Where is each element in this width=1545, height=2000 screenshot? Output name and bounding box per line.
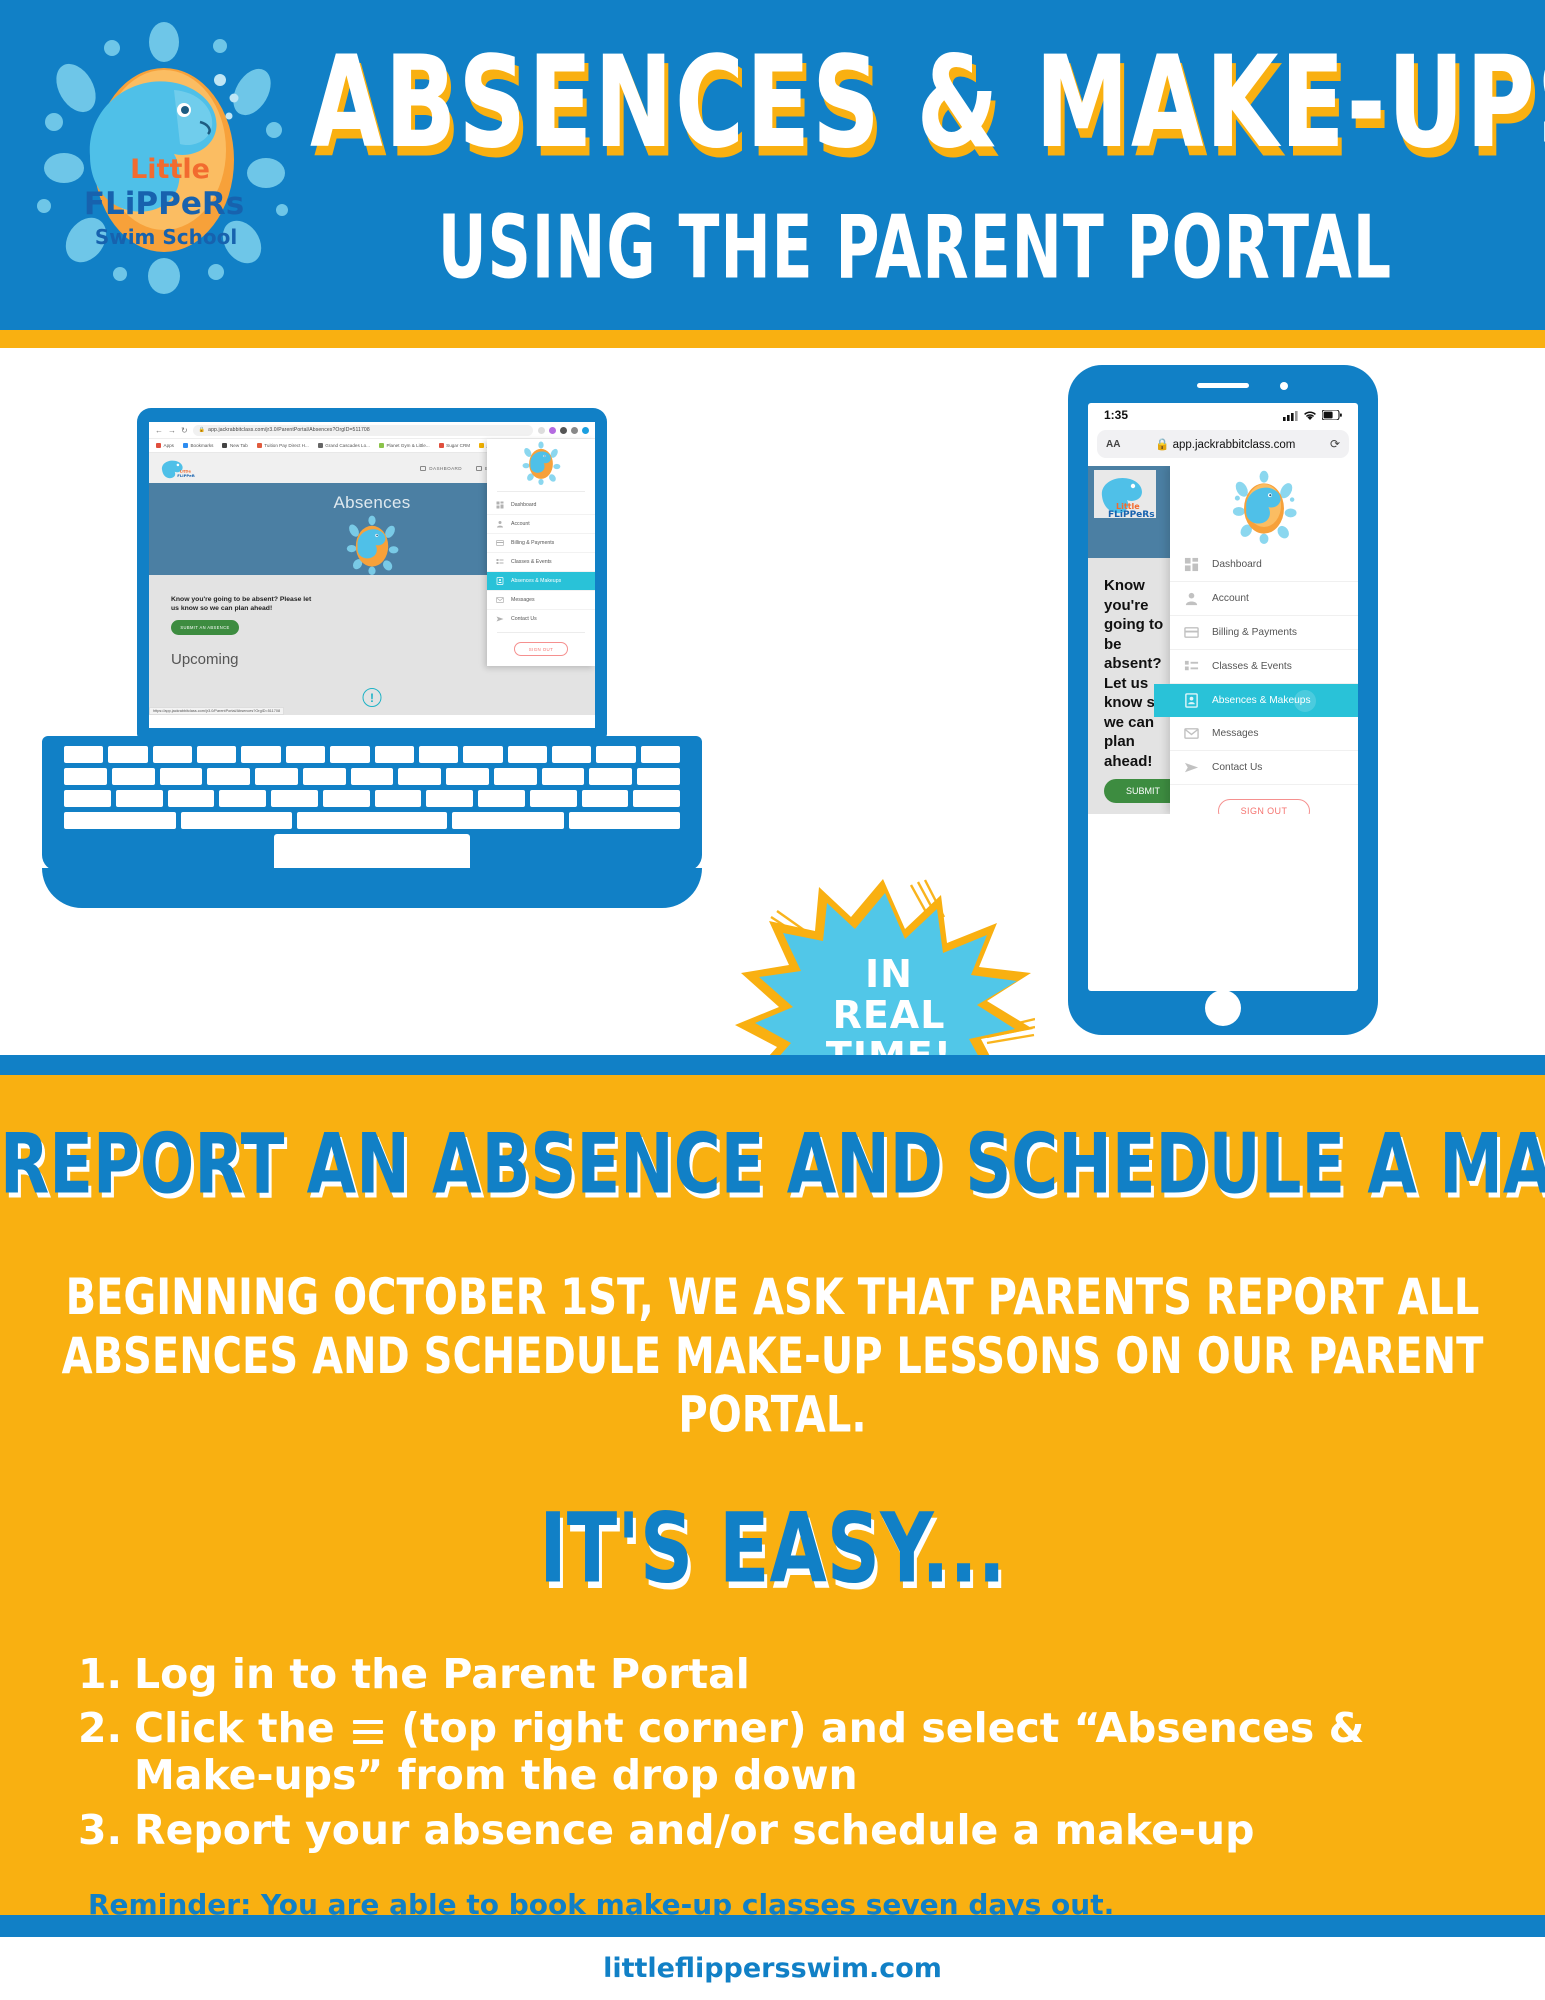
phone-dropdown-logo	[1170, 466, 1358, 548]
extension-icon-2[interactable]	[560, 427, 567, 434]
divider	[497, 632, 585, 633]
wifi-icon	[1303, 410, 1317, 421]
id-card-icon	[496, 577, 504, 585]
key	[589, 768, 632, 785]
key	[569, 812, 681, 829]
grid-icon	[496, 501, 504, 509]
phone-dropdown-menu: Dashboard Account Billing & Payments	[1170, 466, 1358, 814]
hero-title: Absences	[333, 493, 410, 513]
cellular-signal-icon	[1283, 410, 1298, 421]
step-number: 3.	[78, 1807, 124, 1854]
page-footer: littleflippersswim.com	[0, 1937, 1545, 2000]
menu-item-absences-makeups[interactable]: Absences & Makeups	[487, 572, 595, 591]
key	[112, 768, 155, 785]
laptop-lid: ← → ↻ 🔒 app.jackrabbitclass.com/jr3.0/Pa…	[137, 408, 607, 738]
menu-item-contact-us[interactable]: Contact Us	[487, 610, 595, 628]
person-icon	[496, 520, 504, 528]
laptop-foot	[42, 868, 702, 908]
menu-item-label: Classes & Events	[511, 559, 552, 565]
laptop-keyboard	[64, 746, 680, 834]
key	[494, 768, 537, 785]
bookmark-label: Grand Cascades Lo...	[325, 443, 370, 448]
key	[64, 746, 103, 763]
menu-item-account[interactable]: Account	[487, 515, 595, 534]
logo-line2: FLiPPeRs	[84, 186, 244, 222]
key	[271, 790, 318, 807]
header-divider	[0, 330, 1545, 348]
bookmark-item[interactable]: Sugar CRM	[439, 443, 471, 448]
dolphin-logo-icon	[519, 441, 563, 485]
key	[197, 746, 236, 763]
page-subtitle: USING THE PARENT PORTAL	[310, 205, 1520, 292]
key	[64, 812, 176, 829]
list-item: 2. Click the (top right corner) and sele…	[78, 1705, 1507, 1798]
menu-item-messages[interactable]: Messages	[487, 591, 595, 610]
bookmark-item[interactable]: Tuition Pay Direct H...	[257, 443, 309, 448]
key	[64, 768, 107, 785]
step-text: Click the (top right corner) and select …	[134, 1705, 1507, 1798]
key	[330, 746, 369, 763]
laptop-dropdown-menu: Dashboard Account Billing & Payments	[487, 439, 595, 666]
footer-divider	[0, 1915, 1545, 1937]
browser-url-text: app.jackrabbitclass.com/jr3.0/ParentPort…	[208, 427, 370, 433]
extension-icon-1[interactable]	[549, 427, 556, 434]
section-paragraph: BEGINNING OCTOBER 1ST, WE ASK THAT PAREN…	[0, 1269, 1545, 1446]
burst-line-2: REAL	[833, 995, 946, 1036]
phone-menu-item-dashboard[interactable]: Dashboard	[1170, 548, 1358, 582]
globe-icon	[222, 443, 227, 448]
browser-status-bar: https://app.jackrabbitclass.com/jr3.0/Pa…	[149, 707, 284, 715]
lock-icon: 🔒	[199, 427, 205, 433]
forward-arrow-icon[interactable]: →	[168, 426, 176, 435]
bookmark-item[interactable]: Apps	[156, 443, 174, 448]
steps-list: 1. Log in to the Parent Portal 2. Click …	[0, 1651, 1545, 1854]
bookmark-item[interactable]: Planet Gym & Little...	[379, 443, 430, 448]
phone-home-button[interactable]	[1205, 990, 1241, 1026]
dolphin-logo-icon	[342, 515, 402, 575]
status-indicators	[1283, 410, 1342, 421]
logo-line3: Swim School	[95, 225, 237, 249]
step-number: 1.	[78, 1651, 124, 1698]
browser-extension-icons	[538, 427, 589, 434]
key	[64, 790, 111, 807]
bookmark-label: Sugar CRM	[446, 443, 470, 448]
key	[219, 790, 266, 807]
dolphin-logo-icon	[1227, 470, 1301, 544]
absence-prompt-text: Know you're going to be absent? Please l…	[171, 595, 321, 613]
key	[508, 746, 547, 763]
keyboard-row	[64, 746, 680, 763]
text-size-button[interactable]: AA	[1106, 439, 1120, 450]
step-text: Report your absence and/or schedule a ma…	[134, 1807, 1507, 1854]
key	[463, 746, 502, 763]
menu-item-label: Contact Us	[1212, 762, 1262, 773]
phone-page-content: Little FLiPPeRs	[1088, 466, 1358, 814]
key	[168, 790, 215, 807]
key	[637, 768, 680, 785]
menu-item-label: Dashboard	[1212, 559, 1262, 570]
phone-menu-item-account[interactable]: Account	[1170, 582, 1358, 616]
key	[542, 768, 585, 785]
phone-menu-item-contact-us[interactable]: Contact Us	[1170, 751, 1358, 785]
bookmark-label: Planet Gym & Little...	[386, 443, 429, 448]
bookmark-label: Tuition Pay Direct H...	[264, 443, 309, 448]
menu-item-label: Account	[511, 521, 530, 527]
step-number: 2.	[78, 1705, 124, 1752]
phone-sign-out-button[interactable]: SIGN OUT	[1218, 799, 1310, 814]
bookmark-item[interactable]: New Tab	[222, 443, 247, 448]
bookmark-label: Apps	[164, 443, 174, 448]
bookmark-item[interactable]: Grand Cascades Lo...	[318, 443, 370, 448]
phone-browser-bar: AA 🔒 app.jackrabbitclass.com ⟳	[1088, 427, 1358, 466]
card-icon	[1184, 625, 1199, 640]
step-text-pre: Click the	[134, 1704, 349, 1752]
key	[398, 768, 441, 785]
phone-mockup: 1:35 AA 🔒 app.jackrabbitclass.com	[1068, 365, 1378, 1035]
instructions-section: REPORT AN ABSENCE AND SCHEDULE A MAKE-UP…	[0, 1075, 1545, 1915]
key	[419, 746, 458, 763]
favicon-icon	[439, 443, 444, 448]
envelope-icon	[1184, 726, 1199, 741]
portal-logo[interactable]: Little FLiPPeRs	[157, 457, 195, 479]
phone-menu-item-classes[interactable]: Classes & Events	[1170, 650, 1358, 684]
dropdown-logo	[487, 439, 595, 487]
list-icon	[1184, 659, 1199, 674]
apps-icon	[156, 443, 161, 448]
key	[303, 768, 346, 785]
star-icon	[183, 443, 188, 448]
nav-label: DASHBOARD	[429, 466, 462, 471]
menu-item-label: Account	[1212, 593, 1249, 604]
phone-speaker	[1197, 383, 1249, 388]
key	[351, 768, 394, 785]
nav-item-dashboard[interactable]: DASHBOARD	[420, 466, 462, 471]
key	[207, 768, 250, 785]
divider	[497, 491, 585, 492]
list-icon	[496, 558, 504, 566]
key	[596, 746, 635, 763]
keyboard-row	[64, 790, 680, 807]
id-card-icon	[1184, 693, 1199, 708]
menu-item-billing[interactable]: Billing & Payments	[487, 534, 595, 553]
phone-address-bar[interactable]: AA 🔒 app.jackrabbitclass.com ⟳	[1097, 430, 1349, 458]
person-icon	[1184, 591, 1199, 606]
phone-menu-item-absences-makeups[interactable]: Absences & Makeups	[1154, 684, 1358, 717]
dolphin-logo-icon: Little FLiPPeRs	[1094, 470, 1156, 518]
phone-url-value: app.jackrabbitclass.com	[1173, 439, 1296, 451]
sign-out-button[interactable]: SIGN OUT	[514, 642, 568, 656]
grid-icon	[420, 466, 426, 471]
reload-icon[interactable]: ↻	[181, 426, 188, 435]
space-key	[297, 812, 447, 829]
extension-icon-3[interactable]	[571, 427, 578, 434]
browser-toolbar: ← → ↻ 🔒 app.jackrabbitclass.com/jr3.0/Pa…	[149, 422, 595, 439]
submit-absence-button[interactable]: SUBMIT AN ABSENCE	[171, 620, 239, 635]
grid-icon	[1184, 557, 1199, 572]
keyboard-row	[64, 812, 680, 829]
phone-camera	[1280, 382, 1288, 390]
key	[375, 790, 422, 807]
laptop-screen: ← → ↻ 🔒 app.jackrabbitclass.com/jr3.0/Pa…	[149, 422, 595, 728]
key	[375, 746, 414, 763]
menu-item-label: Messages	[511, 597, 535, 603]
svg-text:FLiPPeRs: FLiPPeRs	[177, 473, 195, 478]
key	[255, 768, 298, 785]
tap-ripple	[1294, 690, 1316, 712]
key	[478, 790, 525, 807]
key	[286, 746, 325, 763]
device-showcase: ← → ↻ 🔒 app.jackrabbitclass.com/jr3.0/Pa…	[0, 348, 1545, 1055]
key	[446, 768, 489, 785]
brand-logo: Little FLiPPeRs Swim School	[24, 18, 304, 298]
key	[633, 790, 680, 807]
key	[181, 812, 293, 829]
laptop-keyboard-base	[42, 736, 702, 871]
favicon-icon	[379, 443, 384, 448]
send-icon	[1184, 760, 1199, 775]
key	[641, 746, 680, 763]
dolphin-logo-icon: Little FLiPPeRs	[157, 457, 195, 479]
reload-icon[interactable]: ⟳	[1330, 437, 1340, 451]
key	[160, 768, 203, 785]
menu-item-label: Absences & Makeups	[511, 578, 561, 584]
burst-line-1: IN	[865, 954, 913, 995]
key	[582, 790, 629, 807]
status-time: 1:35	[1104, 408, 1128, 422]
key	[108, 746, 147, 763]
lock-icon: 🔒	[1155, 439, 1169, 451]
section-heading-2: IT'S EASY...	[0, 1493, 1545, 1605]
profile-avatar[interactable]	[582, 427, 589, 434]
exclamation-circle-icon: !	[363, 688, 382, 707]
bookmark-item[interactable]: Bookmarks	[183, 443, 213, 448]
browser-address-bar[interactable]: 🔒 app.jackrabbitclass.com/jr3.0/ParentPo…	[193, 425, 533, 436]
list-item: 3. Report your absence and/or schedule a…	[78, 1807, 1507, 1854]
phone-menu-item-billing[interactable]: Billing & Payments	[1170, 616, 1358, 650]
section-heading-1: REPORT AN ABSENCE AND SCHEDULE A MAKE-UP	[0, 1117, 1545, 1213]
bookmark-label: Bookmarks	[190, 443, 213, 448]
key	[116, 790, 163, 807]
menu-item-label: Dashboard	[511, 502, 536, 508]
key	[153, 746, 192, 763]
menu-item-label: Contact Us	[511, 616, 537, 622]
phone-menu-item-messages[interactable]: Messages	[1170, 717, 1358, 751]
phone-screen: 1:35 AA 🔒 app.jackrabbitclass.com	[1088, 403, 1358, 991]
favicon-icon	[318, 443, 323, 448]
battery-icon	[1322, 410, 1342, 420]
logo-line1: Little	[130, 154, 210, 185]
menu-item-label: Classes & Events	[1212, 661, 1292, 672]
page-header: Little FLiPPeRs Swim School ABSENCES & M…	[0, 0, 1545, 330]
key	[552, 746, 591, 763]
card-icon	[496, 539, 504, 547]
menu-item-classes[interactable]: Classes & Events	[487, 553, 595, 572]
favicon-icon	[257, 443, 262, 448]
phone-status-bar: 1:35	[1088, 403, 1358, 427]
page-title: ABSENCES & MAKE-UPS	[310, 22, 1520, 168]
phone-url-text: 🔒 app.jackrabbitclass.com	[1127, 437, 1322, 451]
step-text: Log in to the Parent Portal	[134, 1651, 1507, 1698]
menu-item-label: Messages	[1212, 728, 1258, 739]
dolphin-logo-icon: Little FLiPPeRs Swim School	[24, 18, 304, 298]
menu-item-dashboard[interactable]: Dashboard	[487, 496, 595, 515]
poster-root: Little FLiPPeRs Swim School ABSENCES & M…	[0, 0, 1545, 2000]
laptop-mockup: ← → ↻ 🔒 app.jackrabbitclass.com/jr3.0/Pa…	[42, 408, 702, 998]
keyboard-row	[64, 768, 680, 785]
yellow-section-top-divider	[0, 1055, 1545, 1075]
svg-text:FLiPPeRs: FLiPPeRs	[1108, 510, 1155, 518]
envelope-icon	[496, 596, 504, 604]
card-icon	[476, 466, 482, 471]
header-titles: ABSENCES & MAKE-UPS USING THE PARENT POR…	[310, 22, 1520, 265]
bookmark-label: New Tab	[230, 443, 248, 448]
back-arrow-icon[interactable]: ←	[155, 426, 163, 435]
star-icon[interactable]	[538, 427, 545, 434]
menu-item-label: Billing & Payments	[1212, 627, 1297, 638]
key	[241, 746, 280, 763]
favicon-icon	[479, 443, 484, 448]
send-icon	[496, 615, 504, 623]
key	[452, 812, 564, 829]
hamburger-menu-icon	[353, 1720, 383, 1744]
key	[323, 790, 370, 807]
website-link[interactable]: littleflippersswim.com	[603, 1953, 942, 1984]
list-item: 1. Log in to the Parent Portal	[78, 1651, 1507, 1698]
menu-item-label: Billing & Payments	[511, 540, 554, 546]
key	[426, 790, 473, 807]
key	[530, 790, 577, 807]
